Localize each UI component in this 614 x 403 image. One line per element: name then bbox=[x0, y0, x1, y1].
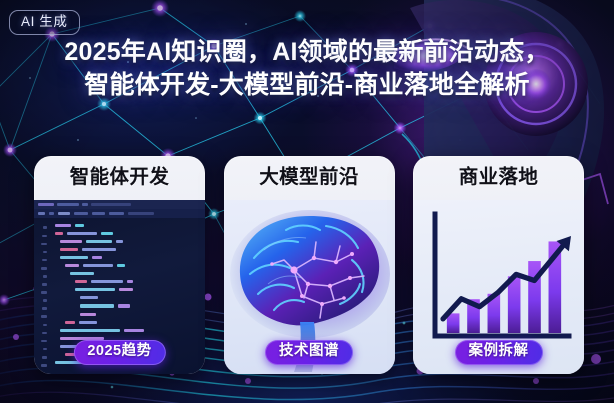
code-token bbox=[83, 264, 113, 267]
code-line bbox=[36, 302, 203, 310]
card-badge-tech-map[interactable]: 技术图谱 bbox=[265, 340, 353, 365]
code-token bbox=[91, 280, 123, 283]
card-agent-development[interactable]: 智能体开发 bbox=[34, 156, 205, 374]
title-line-2: 智能体开发-大模型前沿-商业落地全解析 bbox=[16, 69, 598, 102]
code-token bbox=[65, 321, 75, 324]
code-token bbox=[70, 272, 94, 275]
code-token bbox=[67, 232, 97, 235]
code-token bbox=[75, 280, 87, 283]
card-title-large-model-frontier: 大模型前沿 bbox=[259, 168, 359, 188]
code-token bbox=[116, 240, 123, 243]
code-token bbox=[86, 240, 112, 243]
code-token bbox=[75, 224, 84, 227]
code-line bbox=[36, 318, 203, 326]
code-token bbox=[117, 264, 125, 267]
code-token bbox=[101, 232, 113, 235]
code-line bbox=[36, 229, 203, 237]
code-line bbox=[36, 286, 203, 294]
card-commercial-landing[interactable]: 商业落地 案例拆解 bbox=[413, 156, 584, 374]
code-token bbox=[55, 224, 71, 227]
code-token bbox=[118, 304, 130, 307]
code-token bbox=[82, 248, 116, 251]
poster-canvas: AI 生成 2025年AI知识圈，AI领域的最新前沿动态， 智能体开发-大模型前… bbox=[0, 0, 614, 403]
ai-generated-badge: AI 生成 bbox=[9, 10, 80, 35]
code-token bbox=[124, 329, 144, 332]
code-line bbox=[36, 245, 203, 253]
code-token bbox=[60, 248, 78, 251]
editor-titlebar bbox=[34, 200, 205, 209]
chart-bar bbox=[508, 276, 521, 333]
card-large-model-frontier[interactable]: 大模型前沿 bbox=[224, 156, 395, 374]
code-line bbox=[36, 237, 203, 245]
code-token bbox=[75, 288, 115, 291]
code-token bbox=[80, 296, 98, 299]
code-line bbox=[36, 278, 203, 286]
code-line bbox=[36, 326, 203, 334]
code-line bbox=[36, 221, 203, 229]
code-line bbox=[36, 310, 203, 318]
code-token bbox=[80, 313, 96, 316]
card-title-commercial-landing: 商业落地 bbox=[459, 168, 539, 188]
card-title-agent-development: 智能体开发 bbox=[70, 168, 170, 188]
code-token bbox=[92, 256, 102, 259]
code-line bbox=[36, 294, 203, 302]
code-token bbox=[127, 280, 133, 283]
title-line-1: 2025年AI知识圈，AI领域的最新前沿动态， bbox=[16, 36, 598, 69]
code-line bbox=[36, 261, 203, 269]
code-line bbox=[36, 270, 203, 278]
code-token bbox=[60, 240, 82, 243]
code-token bbox=[80, 304, 114, 307]
code-token bbox=[65, 264, 79, 267]
code-token bbox=[60, 329, 120, 332]
card-badge-case-study[interactable]: 案例拆解 bbox=[455, 340, 543, 365]
code-token bbox=[79, 321, 97, 324]
card-badge-2025-trend[interactable]: 2025趋势 bbox=[73, 340, 165, 365]
editor-menubar bbox=[34, 209, 205, 218]
code-token bbox=[60, 256, 88, 259]
page-title: 2025年AI知识圈，AI领域的最新前沿动态， 智能体开发-大模型前沿-商业落地… bbox=[0, 36, 614, 101]
feature-cards-row: 智能体开发 bbox=[34, 156, 584, 374]
code-token bbox=[119, 288, 133, 291]
code-token bbox=[55, 232, 63, 235]
code-line bbox=[36, 253, 203, 261]
